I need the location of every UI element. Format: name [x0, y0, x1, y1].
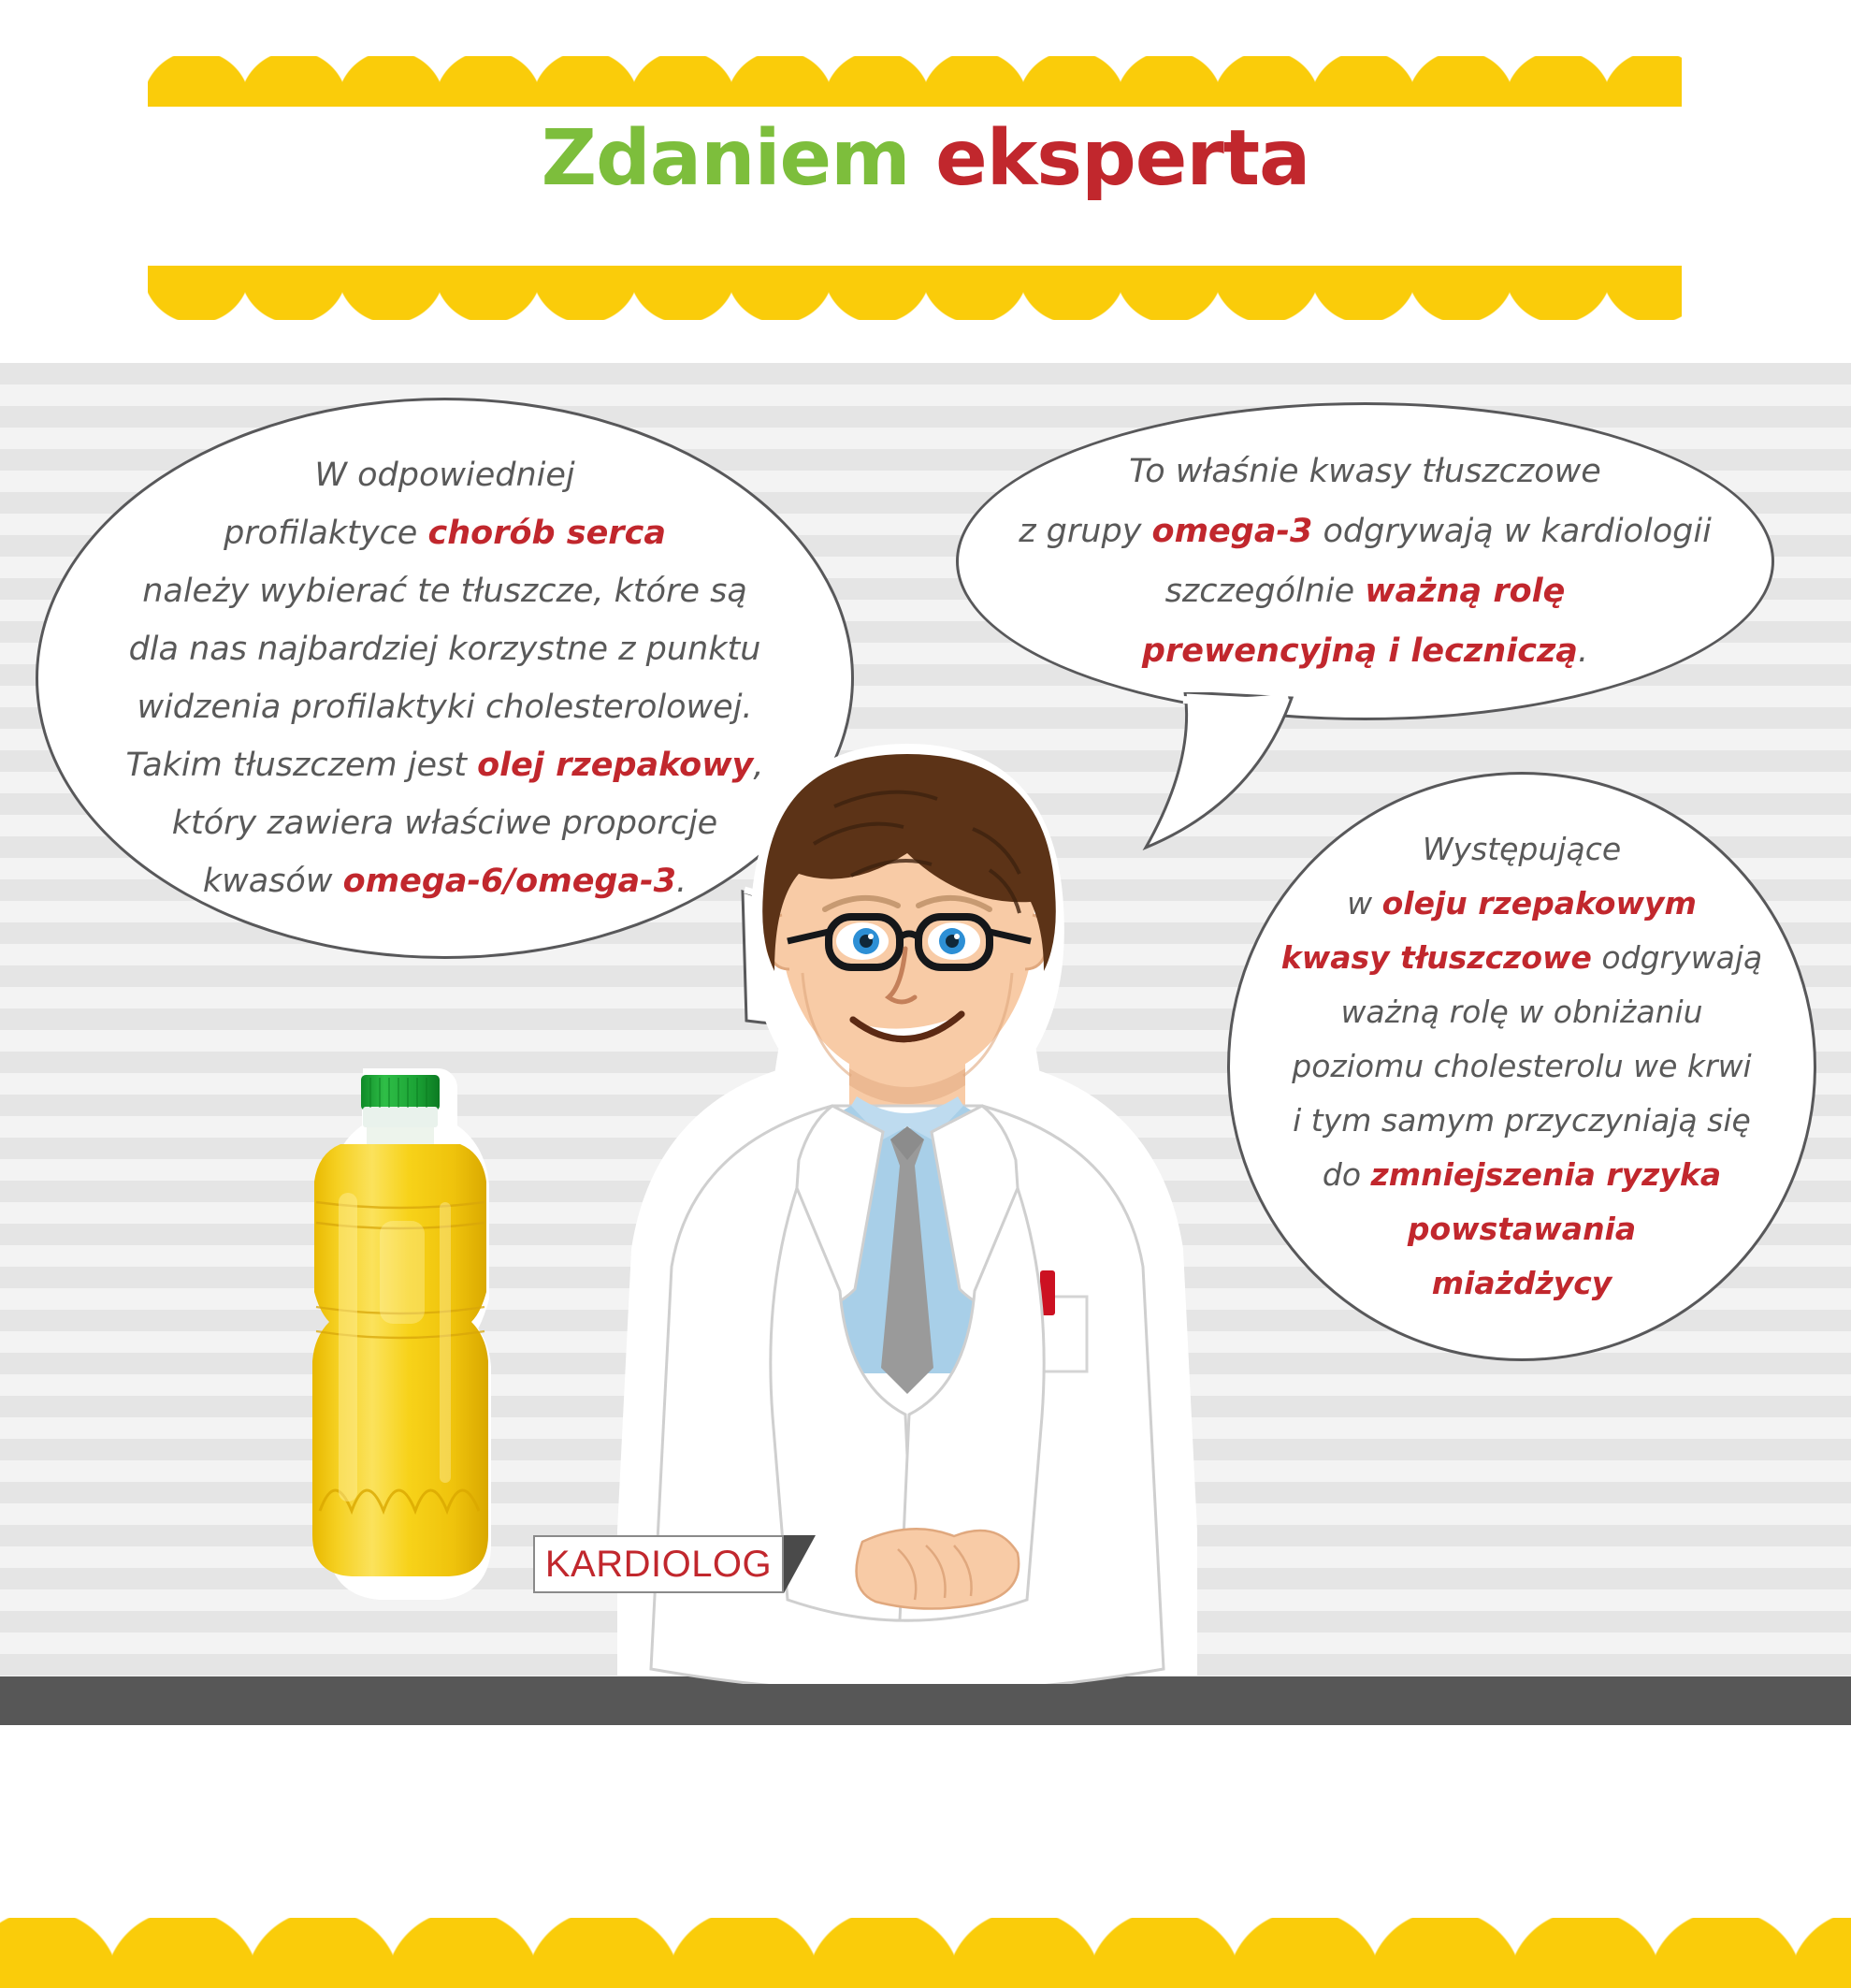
page-title: Zdaniem eksperta	[0, 117, 1851, 201]
footer: pokochaj olej rzepakowy	[0, 1725, 1851, 1918]
scallop-border-top	[148, 56, 1682, 105]
speech-bubble-bottom-right: Występujące w oleju rzepakowym kwasy tłu…	[1227, 772, 1816, 1361]
scallop-bar-top	[148, 101, 1682, 107]
speech-bubble-top-right: To właśnie kwasy tłuszczowe z grupy omeg…	[956, 402, 1774, 720]
rapeseed-oil-bottle	[297, 1062, 503, 1623]
page-title-red: eksperta	[910, 114, 1310, 203]
speech-bubble-bottom-right-text: Występujące w oleju rzepakowym kwasy tłu…	[1230, 822, 1814, 1311]
kardiolog-fold-corner	[784, 1535, 816, 1593]
infographic-root: Zdaniem eksperta	[0, 0, 1851, 1988]
kardiolog-badge: KARDIOLOG	[533, 1535, 814, 1593]
scallop-border-bottom	[0, 1918, 1851, 1988]
speech-bubble-top-right-text: To właśnie kwasy tłuszczowe z grupy omeg…	[959, 442, 1771, 681]
kardiolog-label: KARDIOLOG	[533, 1535, 784, 1593]
page-title-green: Zdaniem	[542, 114, 910, 203]
scallop-border-second	[148, 269, 1682, 320]
